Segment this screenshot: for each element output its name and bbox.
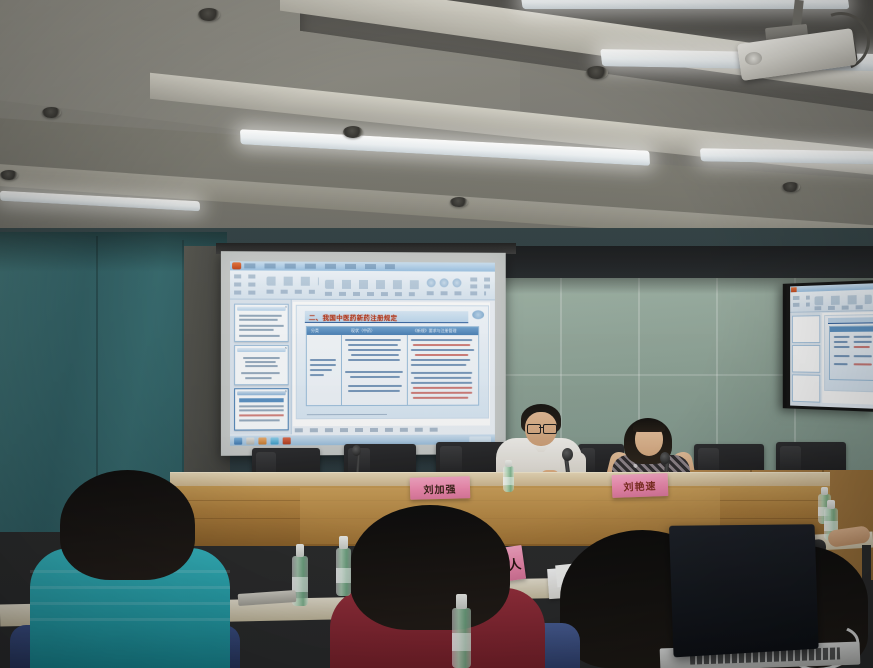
taskbar-app-icon[interactable] (258, 437, 266, 444)
monitor-current-slide[interactable] (824, 314, 873, 392)
table-header-cell: 现状（中药） (351, 328, 375, 334)
microphone-head-icon[interactable] (660, 452, 670, 464)
placard-right-text: 刘艳速 (623, 477, 657, 493)
taskbar-powerpoint-icon[interactable] (283, 437, 291, 444)
slide-thumbnail[interactable]: 4 (234, 304, 289, 342)
office-orb-icon[interactable] (232, 262, 241, 269)
glasses-icon (527, 424, 541, 434)
water-bottle[interactable] (503, 466, 514, 492)
downlight-icon (586, 66, 608, 79)
slide-footer-note (307, 413, 387, 415)
microphone-head-icon[interactable] (562, 448, 573, 461)
taskbar-app-icon[interactable] (271, 437, 279, 444)
downlight-icon (782, 182, 800, 192)
dark-wall-band (500, 246, 873, 282)
conference-room-photo: 4 5 6 (0, 0, 873, 668)
glasses-bridge (539, 427, 543, 428)
table-header-row: 分类 现状（中药） 《新规》要求与注册管理 (307, 327, 478, 335)
slide-thumbnail[interactable] (792, 374, 820, 402)
downlight-icon (198, 8, 220, 21)
monitor-thumbnail-pane[interactable] (790, 312, 820, 407)
powerpoint-window[interactable]: 4 5 6 (230, 261, 495, 445)
monitor-powerpoint-window[interactable] (790, 283, 873, 409)
ceiling (0, 0, 873, 250)
slide-comparison-table: 分类 现状（中药） 《新规》要求与注册管理 (306, 326, 479, 406)
downlight-icon (450, 197, 468, 207)
glasses-icon (543, 424, 557, 434)
institution-seal-icon (472, 310, 484, 319)
slide-thumbnail[interactable] (792, 345, 820, 373)
downlight-icon (343, 126, 363, 138)
start-button-icon[interactable] (234, 437, 242, 444)
placard-left-text: 刘加强 (423, 480, 456, 496)
table-header-cell: 《新规》要求与注册管理 (413, 328, 457, 334)
office-orb-icon[interactable] (791, 287, 797, 292)
water-bottle[interactable] (336, 548, 351, 596)
monitor-slide-stage[interactable] (822, 312, 873, 405)
powerpoint-ribbon[interactable] (230, 270, 495, 300)
downlight-icon (42, 107, 61, 118)
ribbon-tabs[interactable] (244, 263, 395, 269)
thumbnail-number: 5 (285, 346, 287, 350)
fluorescent-light-strip (700, 148, 873, 165)
slide-thumbnail[interactable] (792, 315, 820, 343)
thumbnail-number: 6 (285, 389, 287, 393)
slide-title-bar: 二、我国中医药新药注册规定 (305, 311, 468, 323)
audience-teal (60, 470, 195, 580)
water-bottle[interactable] (452, 608, 471, 668)
slide-thumbnail-pane[interactable]: 4 5 6 (230, 300, 292, 435)
female-panelist-fringe (633, 421, 665, 432)
monitor-ribbon[interactable] (790, 289, 873, 313)
monitor-slide-title-bar (828, 317, 873, 324)
table-header-cell: 分类 (311, 328, 319, 334)
slide-title: 二、我国中医药新药注册规定 (309, 312, 397, 322)
downlight-icon (0, 170, 18, 180)
current-slide[interactable]: 二、我国中医药新药注册规定 分类 现状（中药） 《新规》要求与注册管理 (296, 305, 489, 419)
side-display-monitor[interactable] (783, 280, 873, 412)
thumbnail-number: 4 (285, 305, 287, 309)
placard-right: 刘艳速 (612, 473, 669, 498)
taskbar-app-icon[interactable] (246, 437, 254, 444)
slide-thumbnail[interactable]: 5 (234, 345, 289, 385)
projection-screen[interactable]: 4 5 6 (221, 251, 506, 456)
laptop-screen[interactable] (669, 524, 819, 657)
monitor-slide-table (829, 325, 873, 381)
slide-thumbnail-active[interactable]: 6 (234, 388, 289, 430)
audience-maroon (350, 505, 510, 630)
notes-pane[interactable] (295, 428, 445, 433)
microphone-head-icon[interactable] (352, 445, 361, 456)
placard-left: 刘加强 (410, 476, 471, 500)
slide-stage[interactable]: 二、我国中医药新药注册规定 分类 现状（中药） 《新规》要求与注册管理 (293, 302, 490, 427)
